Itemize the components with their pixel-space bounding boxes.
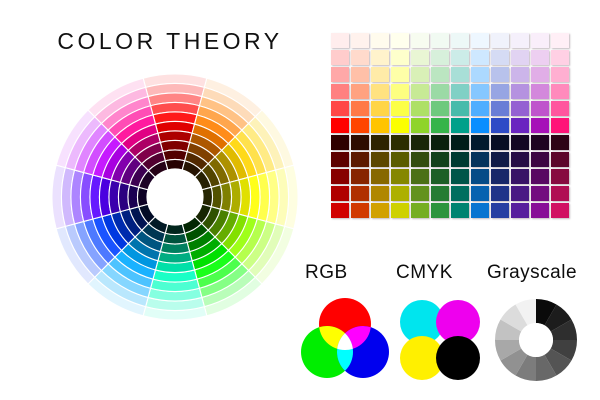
swatch-purple: [531, 186, 549, 201]
wheel-cell: [165, 224, 184, 234]
swatch-amber: [371, 84, 389, 99]
swatch-yellow: [391, 169, 409, 184]
swatch-orange-red: [351, 186, 369, 201]
swatch-violet: [511, 169, 529, 184]
swatch-azure: [471, 135, 489, 150]
cmyk-diagram: [398, 298, 482, 382]
swatch-purple: [531, 169, 549, 184]
swatch-yellow-green: [411, 169, 429, 184]
swatch-blue: [491, 50, 509, 65]
swatch-yellow: [391, 33, 409, 48]
swatch-row: [331, 203, 587, 220]
swatch-orange-red: [351, 84, 369, 99]
swatch-azure: [471, 152, 489, 167]
swatch-yellow: [391, 152, 409, 167]
swatch-yellow: [391, 135, 409, 150]
swatch-azure: [471, 186, 489, 201]
swatch-orange-red: [351, 101, 369, 116]
swatch-amber: [371, 169, 389, 184]
swatch-green: [431, 84, 449, 99]
swatch-teal: [451, 101, 469, 116]
swatch-violet: [511, 203, 529, 218]
swatch-green: [431, 169, 449, 184]
swatch-teal: [451, 152, 469, 167]
swatch-yellow-green: [411, 186, 429, 201]
swatch-purple: [531, 50, 549, 65]
swatch-green: [431, 135, 449, 150]
swatch-red: [331, 152, 349, 167]
swatch-yellow-green: [411, 118, 429, 133]
swatch-pink-magenta: [551, 152, 569, 167]
swatch-pink-magenta: [551, 169, 569, 184]
swatch-red: [331, 118, 349, 133]
swatch-blue: [491, 84, 509, 99]
swatch-pink-magenta: [551, 118, 569, 133]
swatch-pink-magenta: [551, 50, 569, 65]
swatch-pink-magenta: [551, 135, 569, 150]
swatch-purple: [531, 84, 549, 99]
swatch-violet: [511, 101, 529, 116]
grayscale-label: Grayscale: [487, 262, 577, 284]
swatch-blue: [491, 33, 509, 48]
swatch-green: [431, 67, 449, 82]
swatch-purple: [531, 135, 549, 150]
grayscale-donut: [492, 296, 580, 384]
cmyk-label: CMYK: [396, 262, 453, 284]
swatch-blue: [491, 203, 509, 218]
swatch-teal: [451, 50, 469, 65]
swatch-teal: [451, 169, 469, 184]
swatch-yellow: [391, 84, 409, 99]
swatch-purple: [531, 152, 549, 167]
swatch-teal: [451, 203, 469, 218]
swatch-row: [331, 135, 587, 152]
swatch-row: [331, 186, 587, 203]
swatch-orange-red: [351, 33, 369, 48]
swatch-teal: [451, 33, 469, 48]
swatch-pink-magenta: [551, 33, 569, 48]
swatch-blue: [491, 169, 509, 184]
swatch-yellow: [391, 50, 409, 65]
swatch-azure: [471, 67, 489, 82]
swatch-yellow: [391, 186, 409, 201]
wheel-cell: [165, 160, 184, 170]
swatch-blue: [491, 186, 509, 201]
swatch-blue: [491, 101, 509, 116]
swatch-red: [331, 186, 349, 201]
swatch-yellow-green: [411, 50, 429, 65]
swatch-row: [331, 152, 587, 169]
swatch-purple: [531, 118, 549, 133]
wheel-cell: [138, 187, 148, 206]
swatch-green: [431, 186, 449, 201]
swatch-azure: [471, 101, 489, 116]
swatch-orange-red: [351, 152, 369, 167]
grayscale-center-hole: [519, 323, 553, 357]
swatch-blue: [491, 152, 509, 167]
swatch-green: [431, 152, 449, 167]
swatch-red: [331, 67, 349, 82]
swatch-pink-magenta: [551, 84, 569, 99]
swatch-teal: [451, 84, 469, 99]
swatch-amber: [371, 33, 389, 48]
swatch-azure: [471, 169, 489, 184]
swatch-blue: [491, 135, 509, 150]
swatch-red: [331, 50, 349, 65]
swatch-amber: [371, 101, 389, 116]
swatch-violet: [511, 118, 529, 133]
swatch-row: [331, 169, 587, 186]
swatch-violet: [511, 50, 529, 65]
color-wheel: [52, 74, 298, 320]
swatch-yellow-green: [411, 152, 429, 167]
swatch-yellow: [391, 67, 409, 82]
swatch-pink-magenta: [551, 101, 569, 116]
swatch-red: [331, 203, 349, 218]
wheel-center-hole: [147, 169, 203, 225]
swatch-yellow-green: [411, 135, 429, 150]
swatch-violet: [511, 135, 529, 150]
swatch-purple: [531, 33, 549, 48]
swatch-green: [431, 50, 449, 65]
swatch-green: [431, 33, 449, 48]
swatch-orange-red: [351, 67, 369, 82]
swatch-amber: [371, 118, 389, 133]
rgb-additive-diagram: [297, 294, 393, 386]
swatch-yellow-green: [411, 101, 429, 116]
swatch-orange-red: [351, 203, 369, 218]
swatch-azure: [471, 84, 489, 99]
swatch-violet: [511, 186, 529, 201]
rgb-label: RGB: [305, 262, 348, 284]
swatch-yellow: [391, 118, 409, 133]
swatch-violet: [511, 152, 529, 167]
swatch-red: [331, 101, 349, 116]
swatch-teal: [451, 135, 469, 150]
swatch-amber: [371, 203, 389, 218]
swatch-amber: [371, 186, 389, 201]
swatch-yellow-green: [411, 67, 429, 82]
swatch-violet: [511, 33, 529, 48]
swatch-yellow-green: [411, 33, 429, 48]
swatch-pink-magenta: [551, 67, 569, 82]
swatch-purple: [531, 101, 549, 116]
swatch-teal: [451, 67, 469, 82]
swatch-red: [331, 33, 349, 48]
swatch-row: [331, 101, 587, 118]
swatch-pink-magenta: [551, 186, 569, 201]
cmyk-circle-black: [436, 336, 480, 380]
swatch-green: [431, 101, 449, 116]
swatch-red: [331, 84, 349, 99]
swatch-azure: [471, 118, 489, 133]
swatch-pink-magenta: [551, 203, 569, 218]
swatch-violet: [511, 67, 529, 82]
swatch-yellow: [391, 101, 409, 116]
swatch-row: [331, 118, 587, 135]
swatch-green: [431, 118, 449, 133]
swatch-grid: [331, 33, 587, 245]
swatch-orange-red: [351, 169, 369, 184]
swatch-red: [331, 169, 349, 184]
wheel-cell: [202, 187, 212, 206]
swatch-green: [431, 203, 449, 218]
swatch-row: [331, 50, 587, 67]
page-title: COLOR THEORY: [0, 28, 340, 55]
swatch-violet: [511, 84, 529, 99]
swatch-teal: [451, 186, 469, 201]
swatch-purple: [531, 67, 549, 82]
swatch-blue: [491, 67, 509, 82]
swatch-orange-red: [351, 135, 369, 150]
swatch-amber: [371, 135, 389, 150]
swatch-row: [331, 84, 587, 101]
swatch-amber: [371, 67, 389, 82]
swatch-azure: [471, 203, 489, 218]
swatch-amber: [371, 50, 389, 65]
swatch-orange-red: [351, 50, 369, 65]
swatch-yellow-green: [411, 84, 429, 99]
swatch-teal: [451, 118, 469, 133]
swatch-red: [331, 135, 349, 150]
swatch-row: [331, 67, 587, 84]
swatch-azure: [471, 33, 489, 48]
swatch-row: [331, 33, 587, 50]
swatch-orange-red: [351, 118, 369, 133]
swatch-blue: [491, 118, 509, 133]
swatch-purple: [531, 203, 549, 218]
swatch-yellow-green: [411, 203, 429, 218]
swatch-azure: [471, 50, 489, 65]
swatch-amber: [371, 152, 389, 167]
swatch-yellow: [391, 203, 409, 218]
